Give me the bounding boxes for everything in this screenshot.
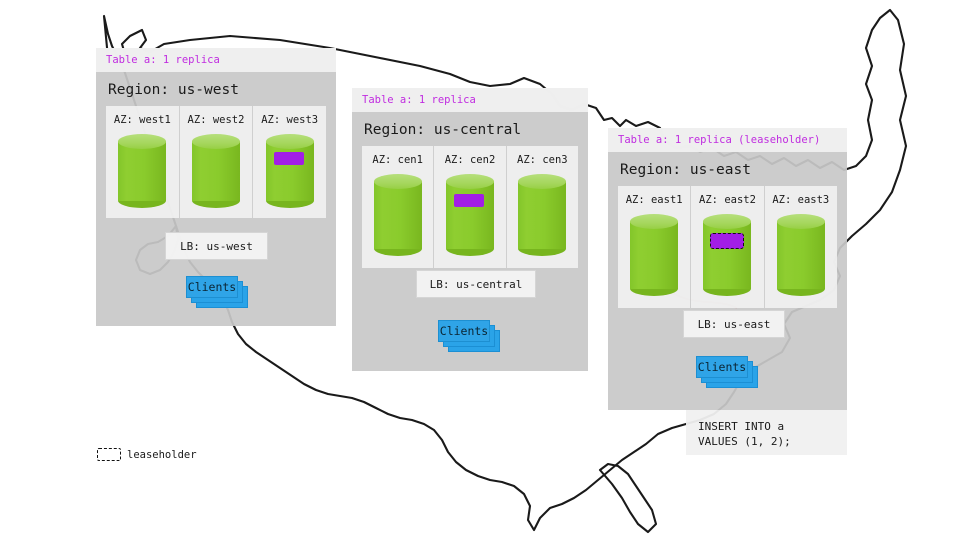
load-balancer-us-central[interactable]: LB: us-central	[416, 270, 536, 298]
clients-button-label-us-central: Clients	[438, 320, 490, 342]
az-panel-cen3[interactable]: AZ: cen3	[507, 146, 578, 268]
az-label-east2: AZ: east2	[691, 186, 763, 210]
region-header-us-west: Table a: 1 replica	[96, 48, 336, 72]
az-label-west2: AZ: west2	[180, 106, 253, 130]
az-label-cen3: AZ: cen3	[507, 146, 578, 170]
region-header-us-east: Table a: 1 replica (leaseholder)	[608, 128, 847, 152]
clients-button-us-east[interactable]: Clients	[696, 356, 758, 388]
az-panel-east3[interactable]: AZ: east3	[765, 186, 837, 308]
az-label-east1: AZ: east1	[618, 186, 690, 210]
legend-label: leaseholder	[127, 449, 197, 461]
region-card-us-west: Table a: 1 replica Region: us-west AZ: w…	[96, 48, 336, 326]
az-panel-west2[interactable]: AZ: west2	[180, 106, 254, 218]
az-panel-west3[interactable]: AZ: west3	[253, 106, 326, 218]
az-panel-west1[interactable]: AZ: west1	[106, 106, 180, 218]
legend-leaseholder: leaseholder	[97, 448, 197, 461]
region-card-us-central: Table a: 1 replica Region: us-central AZ…	[352, 88, 588, 371]
node-cylinder-west3[interactable]	[266, 134, 314, 208]
az-strip-us-east: AZ: east1 AZ: east2 AZ: east3	[618, 186, 837, 308]
az-panel-cen2[interactable]: AZ: cen2	[434, 146, 506, 268]
replica-marker-leaseholder-east2[interactable]	[710, 233, 744, 249]
node-cylinder-east1[interactable]	[630, 214, 678, 296]
node-cylinder-east2[interactable]	[703, 214, 751, 296]
sql-statement-box: INSERT INTO a VALUES (1, 2);	[686, 410, 847, 455]
load-balancer-us-west[interactable]: LB: us-west	[165, 232, 268, 260]
load-balancer-us-east[interactable]: LB: us-east	[683, 310, 785, 338]
node-cylinder-west1[interactable]	[118, 134, 166, 208]
replica-marker-cen2[interactable]	[454, 194, 484, 207]
clients-button-us-west[interactable]: Clients	[186, 276, 248, 308]
node-cylinder-cen2[interactable]	[446, 174, 494, 256]
region-title-us-east: Region: us-east	[608, 152, 847, 186]
az-strip-us-central: AZ: cen1 AZ: cen2 AZ: cen3	[362, 146, 578, 268]
az-label-west1: AZ: west1	[106, 106, 179, 130]
node-cylinder-cen1[interactable]	[374, 174, 422, 256]
az-panel-east1[interactable]: AZ: east1	[618, 186, 691, 308]
node-cylinder-east3[interactable]	[777, 214, 825, 296]
node-cylinder-west2[interactable]	[192, 134, 240, 208]
dashed-rect-icon	[97, 448, 121, 461]
az-label-cen1: AZ: cen1	[362, 146, 433, 170]
region-title-us-west: Region: us-west	[96, 72, 336, 106]
diagram-canvas: 2 Table a: 1 replica Region: us-west AZ:…	[0, 0, 960, 540]
az-panel-east2[interactable]: AZ: east2	[691, 186, 764, 308]
clients-button-us-central[interactable]: Clients	[438, 320, 500, 352]
clients-button-label-us-east: Clients	[696, 356, 748, 378]
az-label-cen2: AZ: cen2	[434, 146, 505, 170]
clients-button-label-us-west: Clients	[186, 276, 238, 298]
replica-marker-west3[interactable]	[274, 152, 304, 165]
az-label-east3: AZ: east3	[765, 186, 837, 210]
region-title-us-central: Region: us-central	[352, 112, 588, 146]
az-panel-cen1[interactable]: AZ: cen1	[362, 146, 434, 268]
az-strip-us-west: AZ: west1 AZ: west2 AZ: west3	[106, 106, 326, 218]
region-card-us-east: Table a: 1 replica (leaseholder) Region:…	[608, 128, 847, 410]
region-header-us-central: Table a: 1 replica	[352, 88, 588, 112]
node-cylinder-cen3[interactable]	[518, 174, 566, 256]
az-label-west3: AZ: west3	[253, 106, 326, 130]
